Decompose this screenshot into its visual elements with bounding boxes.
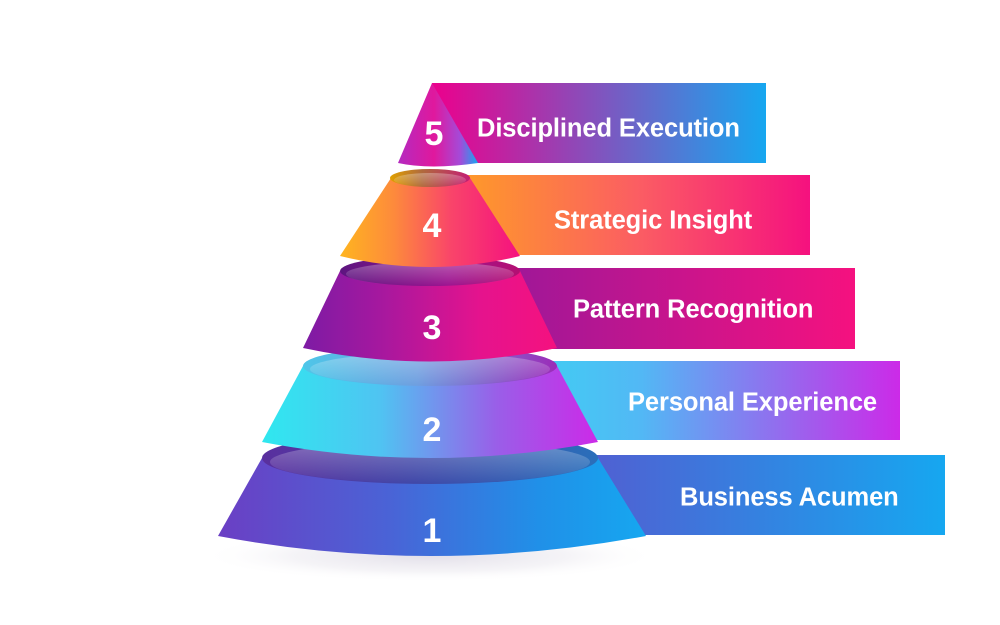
cone-layer-3-number: 3 (423, 309, 442, 347)
cone-pyramid-infographic: 1 2 3 4 5 Disciplined Execution Strategi… (0, 0, 1000, 625)
cone-layer-4-number: 4 (423, 207, 442, 245)
cone-layer-3: 3 (303, 256, 557, 362)
bar-label-level-2: Personal Experience (628, 389, 877, 417)
bar-label-level-5: Disciplined Execution (477, 115, 740, 143)
bar-label-level-3: Pattern Recognition (573, 296, 813, 324)
bar-label-level-4: Strategic Insight (554, 207, 753, 235)
cone-layer-1-number: 1 (423, 512, 442, 550)
cone-layer-2-number: 2 (423, 411, 442, 449)
cone-layer-2: 2 (262, 346, 598, 458)
cone-layer-4-rim-highlight (394, 173, 466, 187)
cone-layer-5-number: 5 (425, 115, 444, 153)
bar-label-level-1: Business Acumen (680, 484, 899, 512)
